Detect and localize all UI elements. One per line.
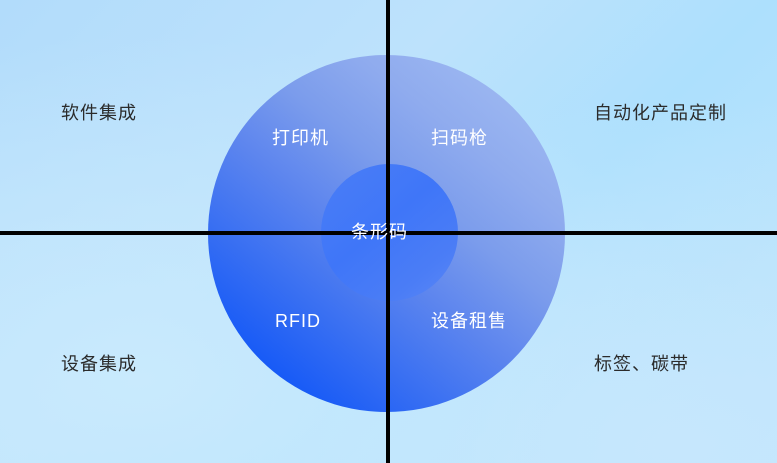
diagram-canvas: 软件集成 自动化产品定制 设备集成 标签、碳带 打印机 扫码枪 RFID 设备租… bbox=[0, 0, 777, 463]
ring-label-top-right[interactable]: 扫码枪 bbox=[431, 129, 488, 147]
outer-label-bottom-left: 设备集成 bbox=[61, 355, 137, 373]
center-node-label[interactable]: 条形码 bbox=[351, 223, 408, 241]
ring-label-bottom-right[interactable]: 设备租售 bbox=[431, 312, 507, 330]
ring-label-bottom-left[interactable]: RFID bbox=[275, 312, 321, 330]
outer-label-bottom-right: 标签、碳带 bbox=[594, 355, 689, 373]
ring-label-top-left[interactable]: 打印机 bbox=[272, 129, 329, 147]
outer-label-top-left: 软件集成 bbox=[61, 104, 137, 122]
outer-label-top-right: 自动化产品定制 bbox=[594, 104, 727, 122]
